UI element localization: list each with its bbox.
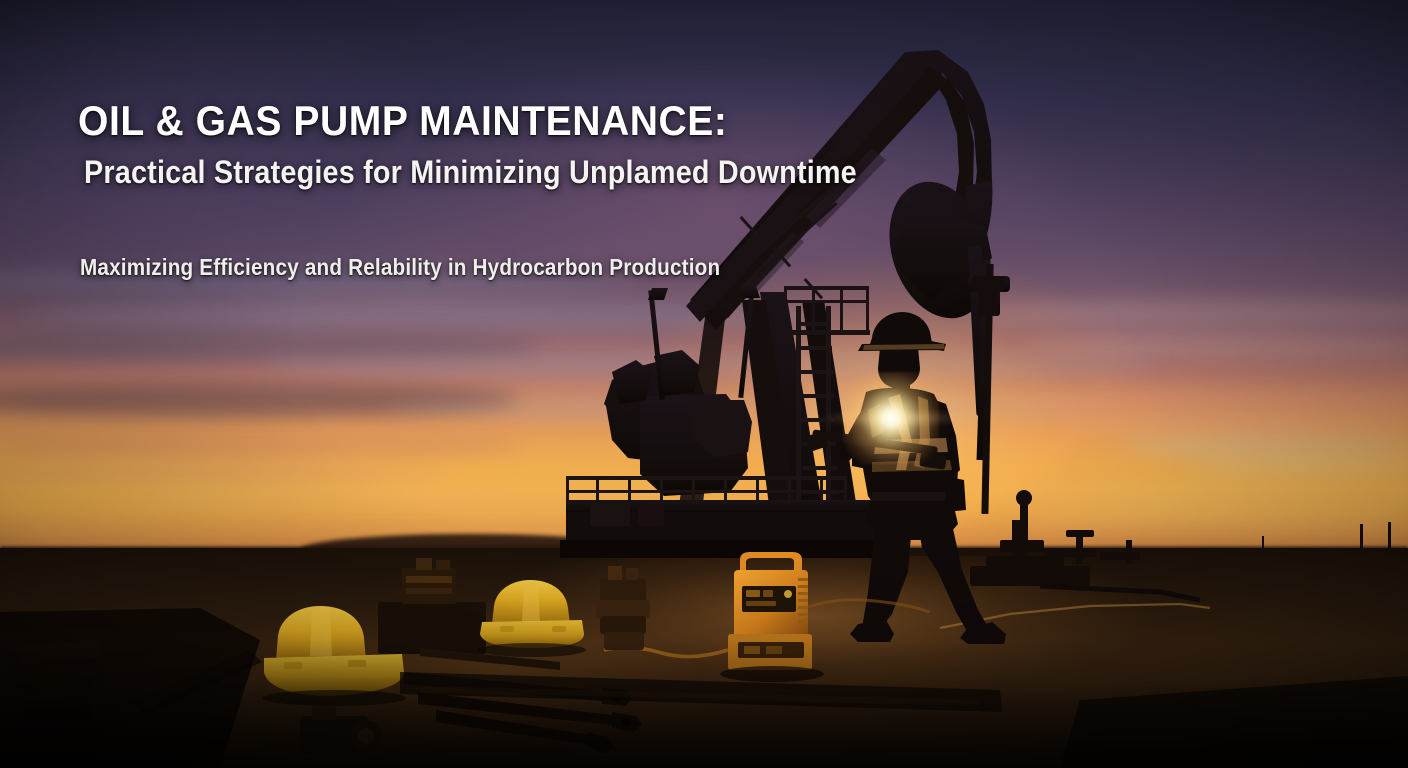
hero-banner: OIL & GAS PUMP MAINTENANCE: Practical St… (0, 0, 1408, 768)
hard-hat-foreground (274, 616, 318, 650)
metal-spool-stack (596, 566, 650, 650)
foreground-shadow-mass-right (1060, 676, 1408, 768)
page-subtitle: Practical Strategies for Minimizing Unpl… (84, 156, 763, 188)
distant-fence-posts (1262, 522, 1391, 548)
foreground-shadow-mass (0, 608, 260, 768)
equipment-crate (378, 558, 486, 654)
sun-flare-core (843, 372, 939, 464)
valve-body (300, 706, 382, 754)
page-tagline: Maximizing Efficiency and Relability in … (80, 254, 762, 281)
wellhead-silhouette (970, 490, 1200, 600)
hard-hat-center (478, 580, 586, 657)
headline-block: OIL & GAS PUMP MAINTENANCE: Practical St… (78, 100, 838, 281)
portable-generator (720, 552, 824, 682)
page-title: OIL & GAS PUMP MAINTENANCE: (78, 100, 785, 142)
